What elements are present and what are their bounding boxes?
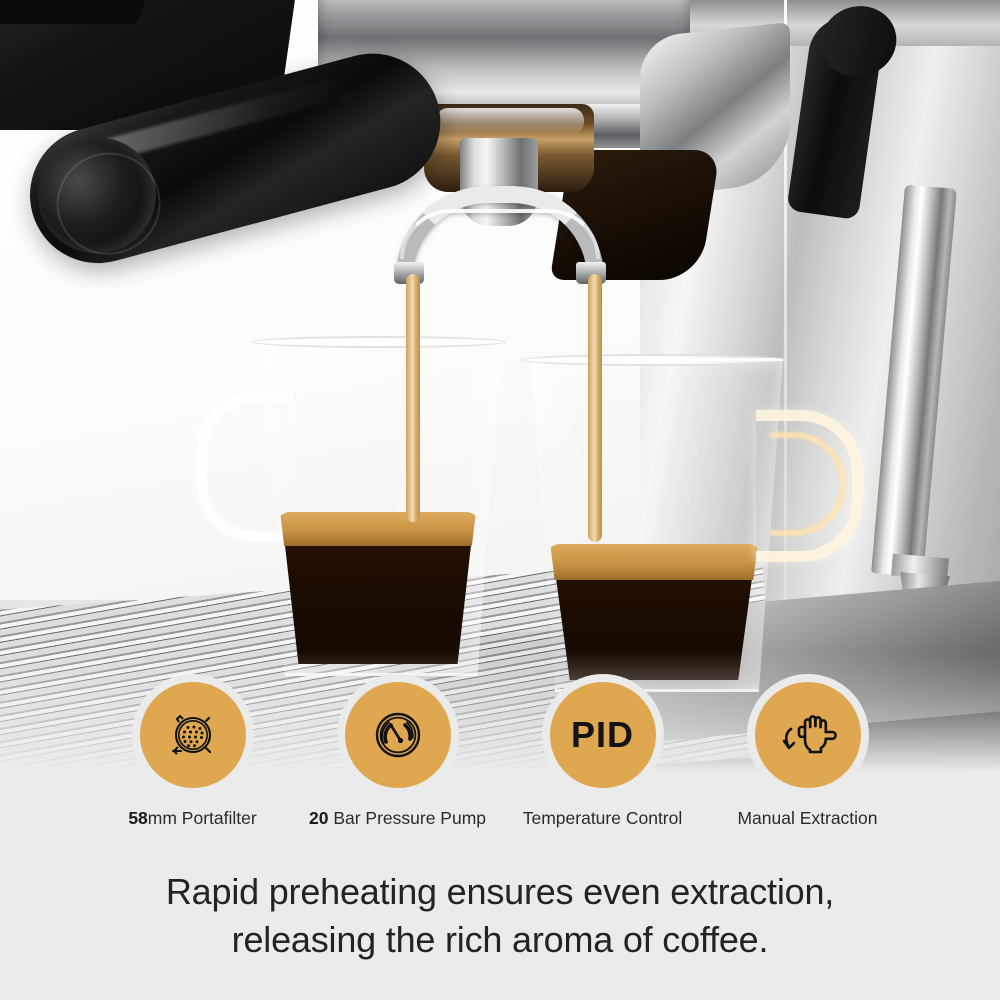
feature-manual-extraction: Manual Extraction <box>705 674 910 829</box>
feature-label-portafilter: 58mm Portafilter <box>128 808 256 829</box>
crema-layer-left <box>276 512 480 546</box>
badge-ring-manual-extraction <box>747 674 869 796</box>
portafilter-basket-icon <box>165 707 221 763</box>
cup-rim-right <box>521 354 789 366</box>
feature-label-pressure-pump-rest: Bar Pressure Pump <box>328 808 486 828</box>
espresso-stream-right <box>588 274 602 542</box>
feature-label-portafilter-rest: mm Portafilter <box>148 808 257 828</box>
badge-pressure-pump <box>345 682 451 788</box>
feature-label-pressure-pump: 20 Bar Pressure Pump <box>309 808 486 829</box>
pressure-gauge-icon <box>369 706 427 764</box>
badge-ring-temperature-control: PID <box>542 674 664 796</box>
manual-hand-lever-icon <box>778 707 838 763</box>
portafilter-handle-cap-ring <box>45 141 172 266</box>
caption-line-1: Rapid preheating ensures even extraction… <box>0 868 1000 916</box>
feature-label-temperature-control: Temperature Control <box>523 808 683 829</box>
feature-portafilter: 58mm Portafilter <box>90 674 295 829</box>
feature-temperature-control: PID Temperature Control <box>500 674 705 829</box>
feature-card-page: 1100 MAX <box>0 0 1000 1000</box>
caption-block: Rapid preheating ensures even extraction… <box>0 868 1000 963</box>
feature-label-manual-extraction-text: Manual Extraction <box>737 808 877 828</box>
cup-rim-left <box>252 336 506 348</box>
feature-pressure-pump: 20 Bar Pressure Pump <box>295 674 500 829</box>
feature-label-pressure-pump-value: 20 <box>309 808 328 828</box>
caption-line-2: releasing the rich aroma of coffee. <box>0 916 1000 964</box>
pid-text-icon: PID <box>571 714 634 756</box>
badge-manual-extraction <box>755 682 861 788</box>
badge-ring-pressure-pump <box>337 674 459 796</box>
machine-body-notch <box>0 0 152 24</box>
portafilter-collar-highlight <box>436 108 584 134</box>
feature-label-temperature-control-text: Temperature Control <box>523 808 683 828</box>
feature-label-portafilter-value: 58 <box>128 808 147 828</box>
espresso-stream-left <box>406 274 420 522</box>
crema-layer-right <box>546 544 762 580</box>
badge-ring-portafilter <box>132 674 254 796</box>
espresso-machine-photo: 1100 MAX <box>0 0 1000 772</box>
badge-temperature-control: PID <box>550 682 656 788</box>
badge-portafilter <box>140 682 246 788</box>
feature-badge-row: 58mm Portafilter <box>0 674 1000 844</box>
feature-label-manual-extraction: Manual Extraction <box>737 808 877 829</box>
